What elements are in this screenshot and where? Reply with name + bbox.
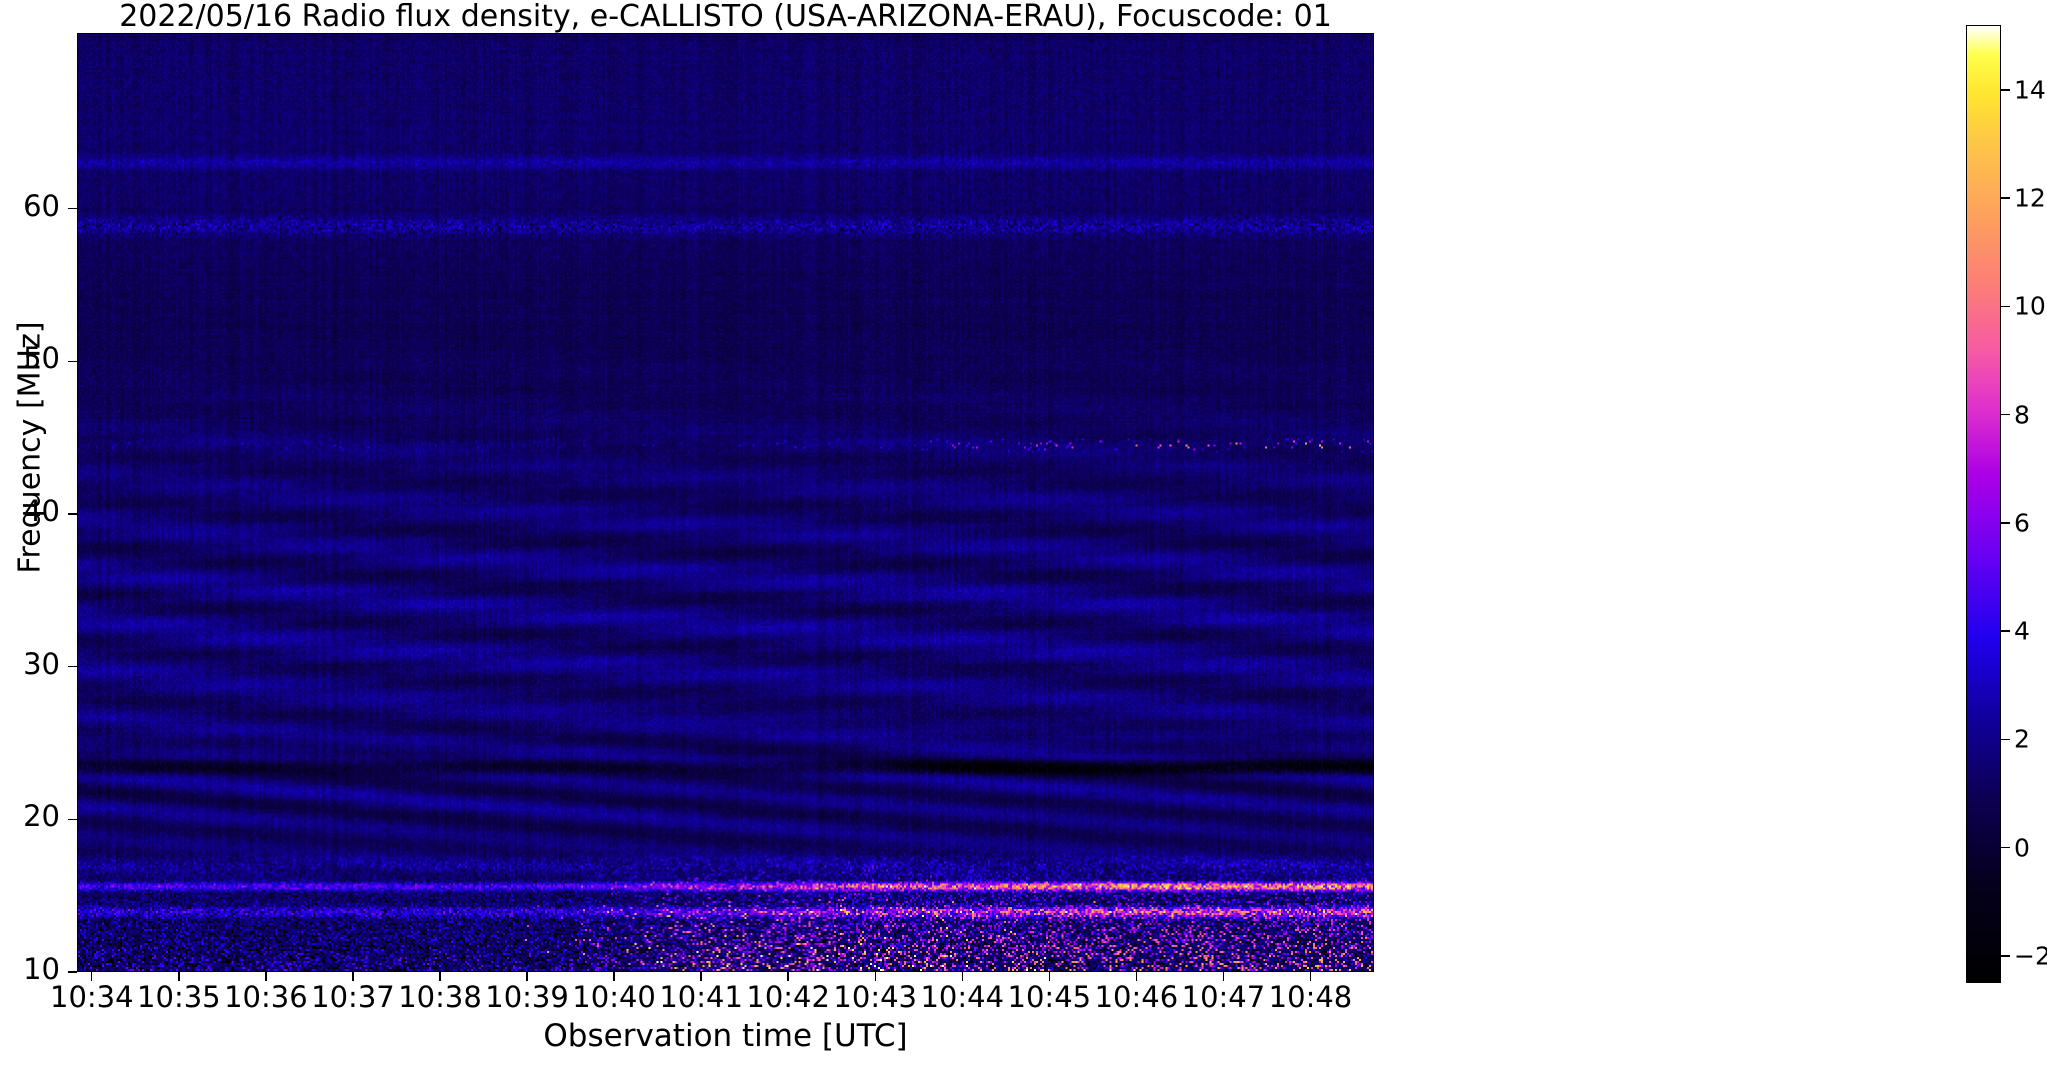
x-tick-label: 10:41 (659, 980, 743, 1014)
colorbar-tick-mark (2001, 89, 2010, 90)
x-tick-label: 10:37 (311, 980, 395, 1014)
colorbar-gradient (1967, 26, 2000, 982)
y-tick-mark (68, 971, 77, 972)
y-tick-label: 20 (0, 799, 60, 833)
y-tick-mark (68, 208, 77, 209)
colorbar-tick-label: 6 (2014, 508, 2030, 537)
x-tick-label: 10:43 (833, 980, 917, 1014)
x-tick-label: 10:38 (398, 980, 482, 1014)
y-tick-mark (68, 666, 77, 667)
colorbar-tick-label: 10 (2014, 292, 2046, 321)
x-tick-label: 10:47 (1182, 980, 1266, 1014)
x-tick-label: 10:42 (746, 980, 830, 1014)
colorbar-tick-label: 14 (2014, 75, 2046, 104)
colorbar-tick-label: 0 (2014, 833, 2030, 862)
x-tick-label: 10:34 (50, 980, 134, 1014)
x-axis-label: Observation time [UTC] (77, 1018, 1374, 1054)
colorbar-tick-mark (2001, 955, 2010, 956)
colorbar-tick-label: 12 (2014, 184, 2046, 213)
x-tick-label: 10:40 (572, 980, 656, 1014)
y-tick-mark (68, 513, 77, 514)
y-tick-mark (68, 361, 77, 362)
colorbar-tick-label: −2 (2014, 941, 2047, 970)
y-tick-mark (68, 819, 77, 820)
colorbar-tick-mark (2001, 739, 2010, 740)
colorbar[interactable] (1966, 25, 2001, 983)
x-tick-label: 10:48 (1269, 980, 1353, 1014)
colorbar-tick-mark (2001, 306, 2010, 307)
x-tick-label: 10:39 (485, 980, 569, 1014)
x-tick-label: 10:44 (920, 980, 1004, 1014)
y-axis-label: Frequency [MHz] (13, 218, 48, 678)
colorbar-tick-label: 2 (2014, 725, 2030, 754)
colorbar-tick-label: 4 (2014, 617, 2030, 646)
spectrogram-image (78, 34, 1373, 971)
colorbar-tick-mark (2001, 197, 2010, 198)
colorbar-tick-mark (2001, 847, 2010, 848)
page-title: 2022/05/16 Radio flux density, e-CALLIST… (77, 0, 1374, 33)
x-tick-label: 10:36 (224, 980, 308, 1014)
colorbar-tick-mark (2001, 414, 2010, 415)
colorbar-tick-mark (2001, 522, 2010, 523)
x-tick-label: 10:45 (1008, 980, 1092, 1014)
colorbar-tick-label: 8 (2014, 400, 2030, 429)
x-tick-label: 10:46 (1095, 980, 1179, 1014)
spectrogram-axes[interactable] (77, 33, 1374, 972)
figure-canvas: 2022/05/16 Radio flux density, e-CALLIST… (0, 0, 2047, 1067)
x-tick-label: 10:35 (137, 980, 221, 1014)
colorbar-tick-mark (2001, 630, 2010, 631)
